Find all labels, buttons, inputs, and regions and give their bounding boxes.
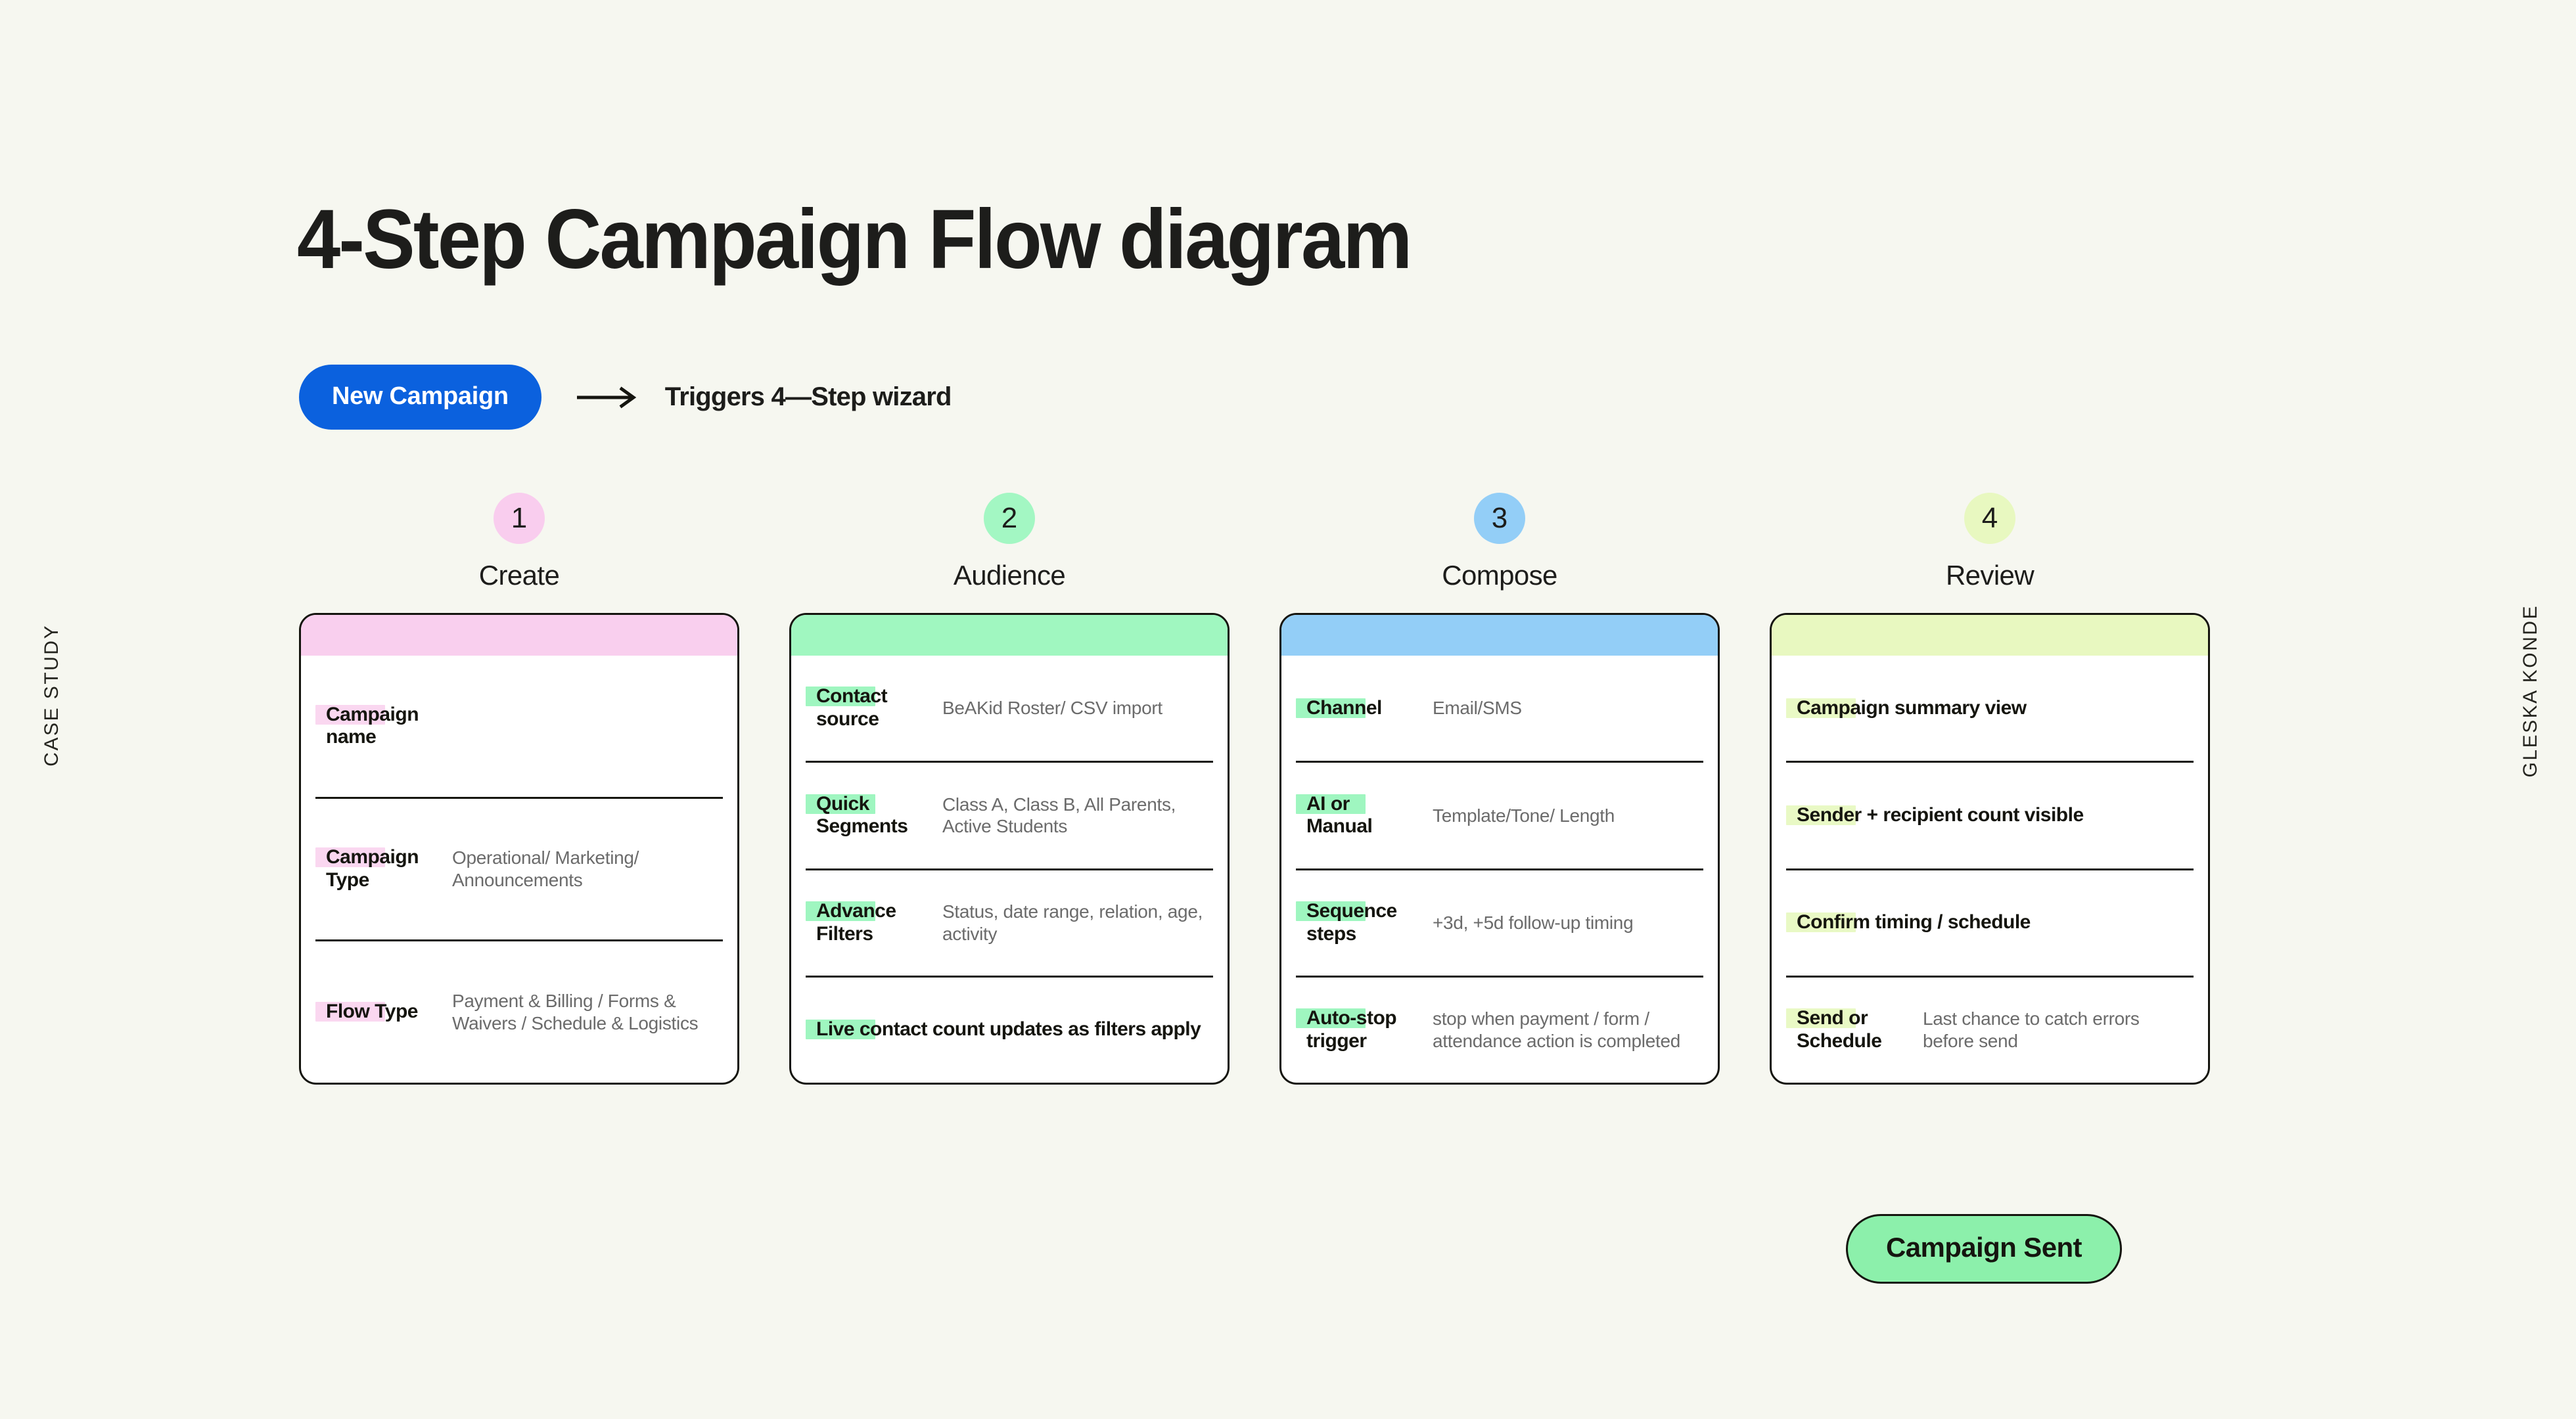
card-color-band [301, 615, 737, 656]
card-row-label-text: Flow Type [326, 1001, 418, 1022]
step-number-badge: 2 [984, 493, 1035, 544]
card-row-label: Contact source [806, 685, 928, 731]
step-number-badge: 3 [1474, 493, 1525, 544]
card-row-label-text: Auto-stop trigger [1306, 1007, 1396, 1052]
author-rail-label: GLESKA KONDE [2519, 604, 2542, 777]
card-row-value: Last chance to catch errors before send [1923, 1008, 2194, 1052]
card-row-list: Campaign nameCampaign TypeOperational/ M… [301, 656, 737, 1083]
card-row: ChannelEmail/SMS [1296, 656, 1703, 761]
card-row: AI or ManualTemplate/Tone/ Length [1296, 761, 1703, 868]
card-row-label: Live contact count updates as filters ap… [806, 1018, 1213, 1041]
card-row-label-text: Quick Segments [816, 793, 908, 838]
card-color-band [1772, 615, 2208, 656]
card-color-band [791, 615, 1228, 656]
card-row-label-text: Contact source [816, 685, 887, 730]
card-row-list: ChannelEmail/SMSAI or ManualTemplate/Ton… [1281, 656, 1718, 1083]
card-row-value: Status, date range, relation, age, activ… [942, 901, 1213, 945]
card-row-label-text: Send or Schedule [1797, 1007, 1881, 1052]
card-row-label: Flow Type [315, 1001, 438, 1024]
card-row-label-text: Campaign name [326, 704, 419, 748]
steps-container: 1CreateCampaign nameCampaign TypeOperati… [299, 493, 2211, 1085]
card-row: Send or ScheduleLast chance to catch err… [1786, 976, 2194, 1083]
card-row-label: Sender + recipient count visible [1786, 804, 2194, 827]
step-column-review: 4ReviewCampaign summary viewSender + rec… [1770, 493, 2210, 1085]
step-number-badge: 1 [494, 493, 545, 544]
card-row: Sender + recipient count visible [1786, 761, 2194, 868]
card-row: Campaign TypeOperational/ Marketing/ Ann… [315, 797, 723, 940]
step-name-label: Audience [954, 560, 1065, 591]
card-row-label: Confirm timing / schedule [1786, 911, 2194, 934]
card-row-label: Quick Segments [806, 793, 928, 839]
card-row: Quick SegmentsClass A, Class B, All Pare… [806, 761, 1213, 868]
card-row-list: Contact sourceBeAKid Roster/ CSV importQ… [791, 656, 1228, 1083]
card-row-value: Operational/ Marketing/ Announcements [452, 847, 723, 891]
card-row-label-text: Live contact count updates as filters ap… [816, 1018, 1201, 1040]
card-row-value: Payment & Billing / Forms & Waivers / Sc… [452, 990, 723, 1034]
step-column-create: 1CreateCampaign nameCampaign TypeOperati… [299, 493, 739, 1085]
card-row-value: Class A, Class B, All Parents, Active St… [942, 794, 1213, 838]
card-row-label: AI or Manual [1296, 793, 1418, 839]
card-row-label-text: Advance Filters [816, 900, 896, 945]
step-card[interactable]: ChannelEmail/SMSAI or ManualTemplate/Ton… [1279, 613, 1720, 1085]
step-name-label: Review [1946, 560, 2034, 591]
campaign-sent-badge: Campaign Sent [1846, 1214, 2122, 1284]
card-row-label: Auto-stop trigger [1296, 1007, 1418, 1053]
card-row-label-text: Sequence steps [1306, 900, 1397, 945]
trigger-description: Triggers 4—Step wizard [665, 382, 952, 412]
step-column-audience: 2AudienceContact sourceBeAKid Roster/ CS… [789, 493, 1230, 1085]
card-row-label-text: Campaign Type [326, 846, 419, 891]
case-study-rail-label: CASE STUDY [41, 624, 63, 767]
card-row-value: stop when payment / form / attendance ac… [1433, 1008, 1703, 1052]
card-color-band [1281, 615, 1718, 656]
arrow-right-icon [576, 386, 639, 409]
step-card[interactable]: Campaign summary viewSender + recipient … [1770, 613, 2210, 1085]
card-row: Confirm timing / schedule [1786, 868, 2194, 976]
step-name-label: Create [479, 560, 559, 591]
new-campaign-button[interactable]: New Campaign [299, 365, 541, 430]
card-row: Campaign summary view [1786, 656, 2194, 761]
step-number-badge: 4 [1964, 493, 2015, 544]
card-row-label: Send or Schedule [1786, 1007, 1908, 1053]
step-column-compose: 3ComposeChannelEmail/SMSAI or ManualTemp… [1279, 493, 1720, 1085]
card-row-list: Campaign summary viewSender + recipient … [1772, 656, 2208, 1083]
step-name-label: Compose [1442, 560, 1557, 591]
card-row-label: Channel [1296, 697, 1418, 720]
card-row: Live contact count updates as filters ap… [806, 976, 1213, 1083]
card-row-value: Template/Tone/ Length [1433, 805, 1703, 827]
card-row: Advance FiltersStatus, date range, relat… [806, 868, 1213, 976]
card-row-value: Email/SMS [1433, 697, 1703, 719]
card-row-label: Sequence steps [1296, 900, 1418, 946]
card-row: Campaign name [315, 656, 723, 797]
page-title: 4-Step Campaign Flow diagram [297, 198, 1411, 282]
card-row-value: BeAKid Roster/ CSV import [942, 697, 1213, 719]
card-row-label: Campaign name [315, 704, 438, 750]
card-row-label: Campaign summary view [1786, 697, 2194, 720]
card-row-label-text: Confirm timing / schedule [1797, 911, 2031, 933]
card-row: Flow TypePayment & Billing / Forms & Wai… [315, 939, 723, 1083]
card-row: Auto-stop triggerstop when payment / for… [1296, 976, 1703, 1083]
card-row-label-text: Sender + recipient count visible [1797, 804, 2084, 826]
step-card[interactable]: Contact sourceBeAKid Roster/ CSV importQ… [789, 613, 1230, 1085]
trigger-row: New Campaign Triggers 4—Step wizard [299, 365, 952, 430]
card-row: Sequence steps+3d, +5d follow-up timing [1296, 868, 1703, 976]
card-row: Contact sourceBeAKid Roster/ CSV import [806, 656, 1213, 761]
card-row-label: Advance Filters [806, 900, 928, 946]
step-card[interactable]: Campaign nameCampaign TypeOperational/ M… [299, 613, 739, 1085]
card-row-value: +3d, +5d follow-up timing [1433, 912, 1703, 934]
card-row-label-text: Campaign summary view [1797, 697, 2027, 719]
card-row-label-text: Channel [1306, 697, 1382, 719]
card-row-label: Campaign Type [315, 846, 438, 892]
